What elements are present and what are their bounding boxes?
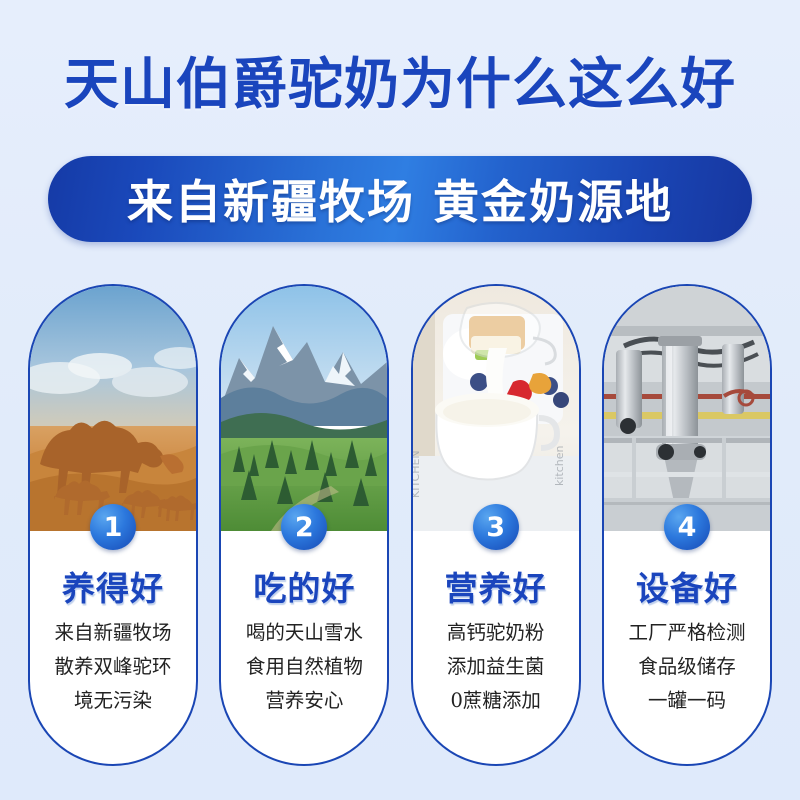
subtitle-banner-text: 来自新疆牧场 黄金奶源地 bbox=[127, 166, 673, 232]
page-title: 天山伯爵驼奶为什么这么好 bbox=[0, 52, 800, 116]
card-title: 营养好 bbox=[413, 562, 579, 610]
card-badge-number: 1 bbox=[90, 504, 136, 550]
card-line: 添加益生菌 bbox=[413, 650, 579, 684]
card-badge-number: 3 bbox=[473, 504, 519, 550]
card-description: 喝的天山雪水 食用自然植物 营养安心 bbox=[221, 616, 387, 718]
card-line: 一罐一码 bbox=[604, 684, 770, 718]
promo-page: 天山伯爵驼奶为什么这么好 来自新疆牧场 黄金奶源地 bbox=[0, 0, 800, 800]
card-badge-number: 4 bbox=[664, 504, 710, 550]
feature-card-3[interactable]: KITCHEN kitchen 3 营养好 高钙驼奶粉 添加益生菌 0蔗糖添加 bbox=[411, 284, 581, 766]
subtitle-banner: 来自新疆牧场 黄金奶源地 bbox=[48, 156, 752, 242]
card-line: 食品级储存 bbox=[604, 650, 770, 684]
card-description: 高钙驼奶粉 添加益生菌 0蔗糖添加 bbox=[413, 616, 579, 718]
card-badge-number: 2 bbox=[281, 504, 327, 550]
card-description: 来自新疆牧场 散养双峰驼环 境无污染 bbox=[30, 616, 196, 718]
card-line: 高钙驼奶粉 bbox=[413, 616, 579, 650]
milk-pouring-into-cup-photo: KITCHEN kitchen bbox=[413, 286, 579, 531]
card-line: 散养双峰驼环 bbox=[30, 650, 196, 684]
dairy-factory-equipment-photo bbox=[604, 286, 770, 531]
snow-mountain-meadow-photo bbox=[221, 286, 387, 531]
card-line: 0蔗糖添加 bbox=[413, 684, 579, 718]
card-description: 工厂严格检测 食品级储存 一罐一码 bbox=[604, 616, 770, 718]
card-title: 设备好 bbox=[604, 562, 770, 610]
card-title: 养得好 bbox=[30, 562, 196, 610]
feature-card-1[interactable]: 1 养得好 来自新疆牧场 散养双峰驼环 境无污染 bbox=[28, 284, 198, 766]
card-title: 吃的好 bbox=[221, 562, 387, 610]
svg-text:kitchen: kitchen bbox=[553, 445, 566, 486]
card-line: 喝的天山雪水 bbox=[221, 616, 387, 650]
camels-in-desert-photo bbox=[30, 286, 196, 531]
feature-card-2[interactable]: 2 吃的好 喝的天山雪水 食用自然植物 营养安心 bbox=[219, 284, 389, 766]
card-line: 食用自然植物 bbox=[221, 650, 387, 684]
svg-text:KITCHEN: KITCHEN bbox=[413, 450, 422, 498]
feature-card-list: 1 养得好 来自新疆牧场 散养双峰驼环 境无污染 bbox=[28, 284, 772, 766]
card-line: 境无污染 bbox=[30, 684, 196, 718]
feature-card-4[interactable]: 4 设备好 工厂严格检测 食品级储存 一罐一码 bbox=[602, 284, 772, 766]
card-line: 来自新疆牧场 bbox=[30, 616, 196, 650]
card-line: 营养安心 bbox=[221, 684, 387, 718]
card-line: 工厂严格检测 bbox=[604, 616, 770, 650]
